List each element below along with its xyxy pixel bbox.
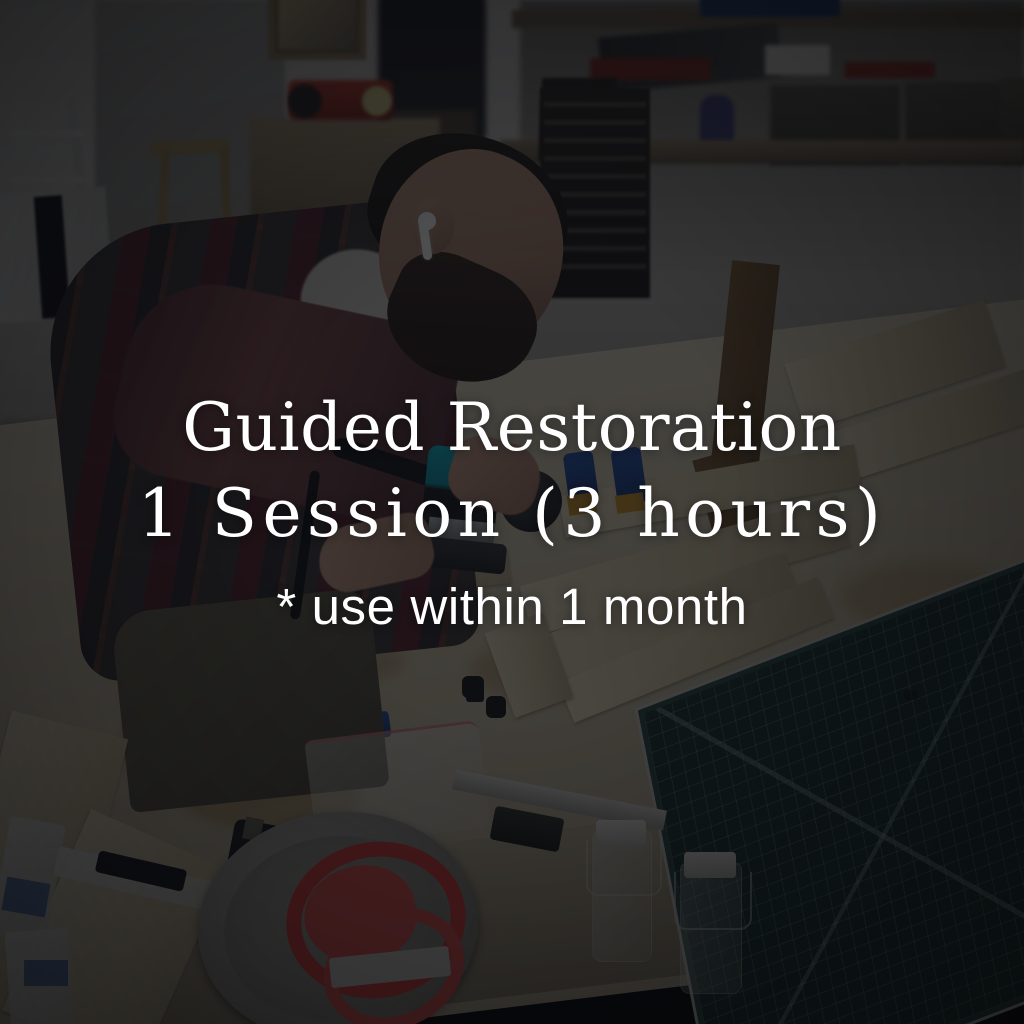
promo-card: Guided Restoration 1 Session (3 hours) *… [0, 0, 1024, 1024]
vignette [0, 0, 1024, 1024]
